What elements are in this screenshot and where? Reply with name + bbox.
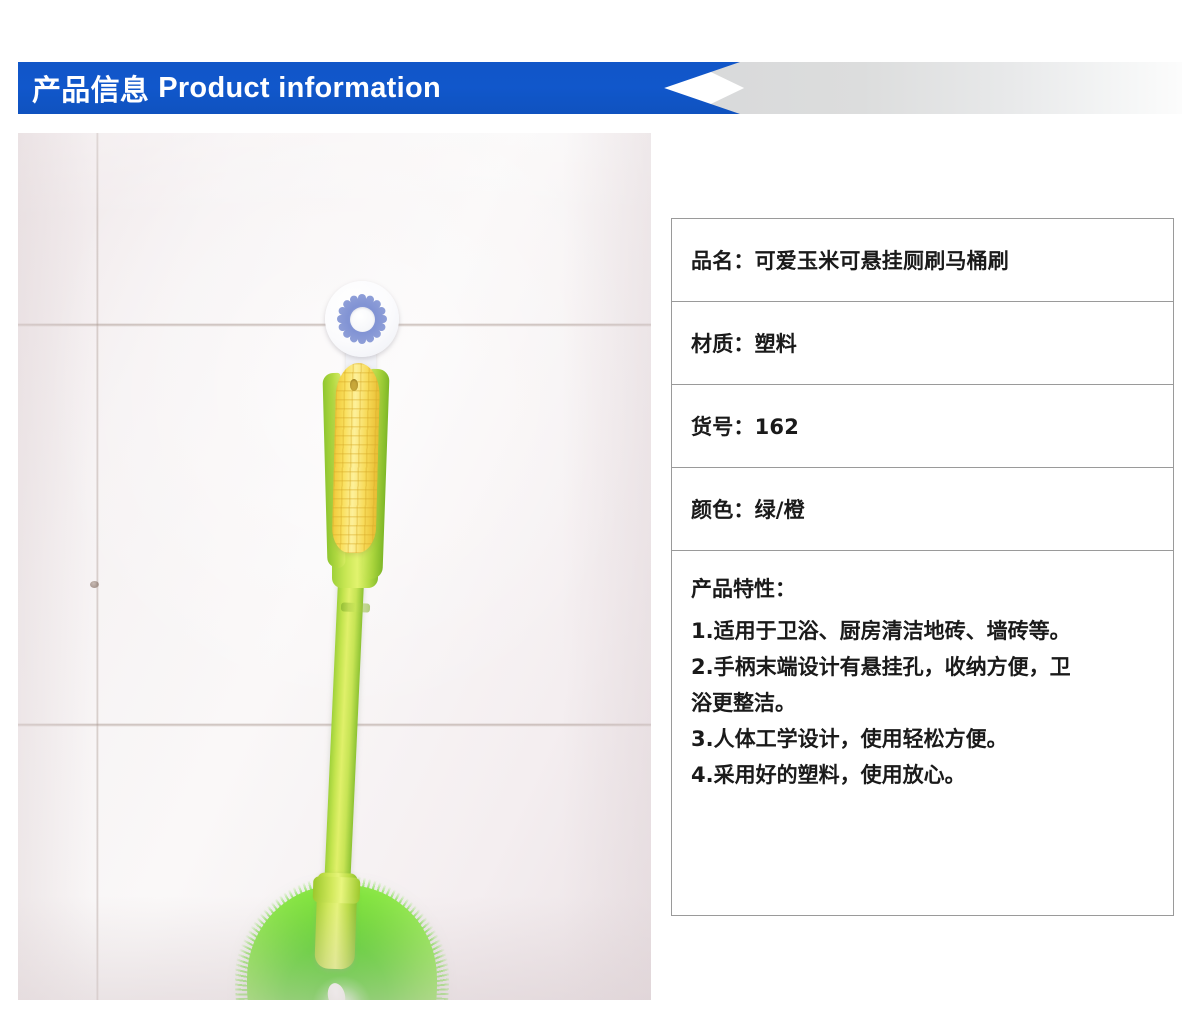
table-row: 品名：可爱玉米可悬挂厕刷马桶刷	[672, 219, 1173, 302]
page-title: 产品信息 Product information	[32, 62, 441, 114]
page-title-chinese: 产品信息	[32, 67, 149, 109]
hanging-hole	[350, 379, 358, 391]
brush-head	[223, 873, 493, 1000]
feature-line: 4.采用好的塑料，使用放心。	[691, 757, 1154, 793]
grout-line-vertical	[96, 133, 99, 1000]
product-info-table: 品名：可爱玉米可悬挂厕刷马桶刷 材质：塑料 货号：162 颜色：绿/橙 产品特性…	[671, 218, 1174, 916]
product-photo	[18, 133, 651, 1000]
feature-line: 浴更整洁。	[691, 685, 1154, 721]
flower-petals	[325, 281, 399, 357]
feature-line: 1.适用于卫浴、厨房清洁地砖、墙砖等。	[691, 613, 1154, 649]
page-title-english: Product information	[158, 72, 441, 105]
product-name-value: 品名：可爱玉米可悬挂厕刷马桶刷	[691, 245, 1009, 275]
item-number-value: 货号：162	[691, 411, 799, 441]
table-row: 材质：塑料	[672, 302, 1173, 385]
brush-collar	[313, 876, 361, 904]
banner-grey-tail	[690, 62, 1182, 114]
wall-screw-mark	[90, 581, 99, 588]
product-features-section: 产品特性： 1.适用于卫浴、厨房清洁地砖、墙砖等。 2.手柄末端设计有悬挂孔，收…	[672, 551, 1173, 804]
flower-center	[350, 307, 375, 332]
color-value: 颜色：绿/橙	[691, 494, 805, 524]
corn-cob-pattern	[332, 363, 381, 553]
material-value: 材质：塑料	[691, 328, 797, 358]
features-title: 产品特性：	[691, 573, 1154, 603]
table-row: 颜色：绿/橙	[672, 468, 1173, 551]
page-header-banner: 产品信息 Product information	[0, 62, 1200, 114]
table-row: 货号：162	[672, 385, 1173, 468]
feature-line: 2.手柄末端设计有悬挂孔，收纳方便，卫	[691, 649, 1154, 685]
corn-handle	[308, 363, 418, 923]
feature-line: 3.人体工学设计，使用轻松方便。	[691, 721, 1154, 757]
handle-ring	[341, 602, 370, 612]
